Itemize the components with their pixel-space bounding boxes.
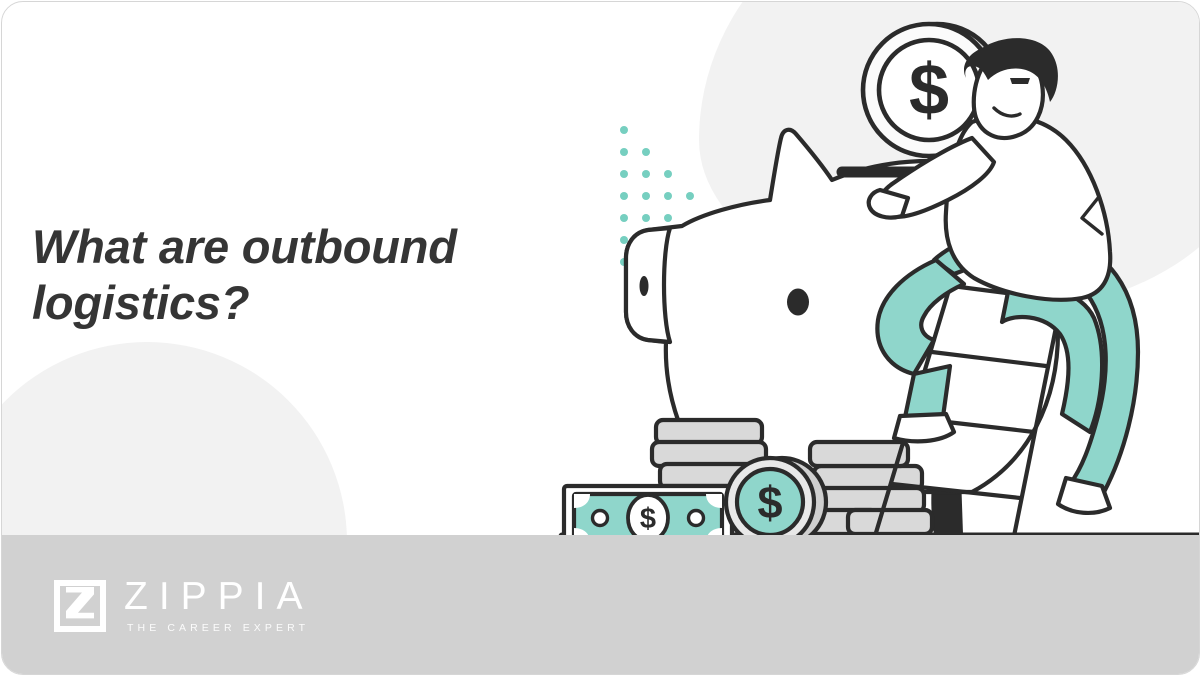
promo-card: .ol { fill:none; stroke:#2b2b2b; stroke-… — [1, 1, 1200, 675]
page-title: What are outbound logistics? — [32, 219, 572, 331]
svg-text:$: $ — [909, 50, 949, 130]
piggy-nostril — [640, 276, 649, 296]
zippia-z-square-icon — [54, 580, 106, 632]
svg-text:$: $ — [640, 503, 656, 535]
man-shoe-upper — [894, 414, 954, 441]
screenshot-canvas: .ol { fill:none; stroke:#2b2b2b; stroke-… — [0, 0, 1201, 676]
logo-text-block: ZIPPIA THE CAREER EXPERT — [124, 577, 314, 634]
zippia-logo[interactable]: ZIPPIA THE CAREER EXPERT — [54, 577, 314, 634]
logo-wordmark: ZIPPIA — [124, 577, 314, 616]
illustration-piggy-bank-savings: .ol { fill:none; stroke:#2b2b2b; stroke-… — [542, 22, 1200, 567]
svg-text:$: $ — [757, 477, 782, 528]
logo-tagline: THE CAREER EXPERT — [127, 622, 314, 634]
teal-dollar-coin: $ — [726, 458, 826, 546]
man-hand — [869, 190, 908, 218]
piggy-eye — [787, 289, 809, 316]
